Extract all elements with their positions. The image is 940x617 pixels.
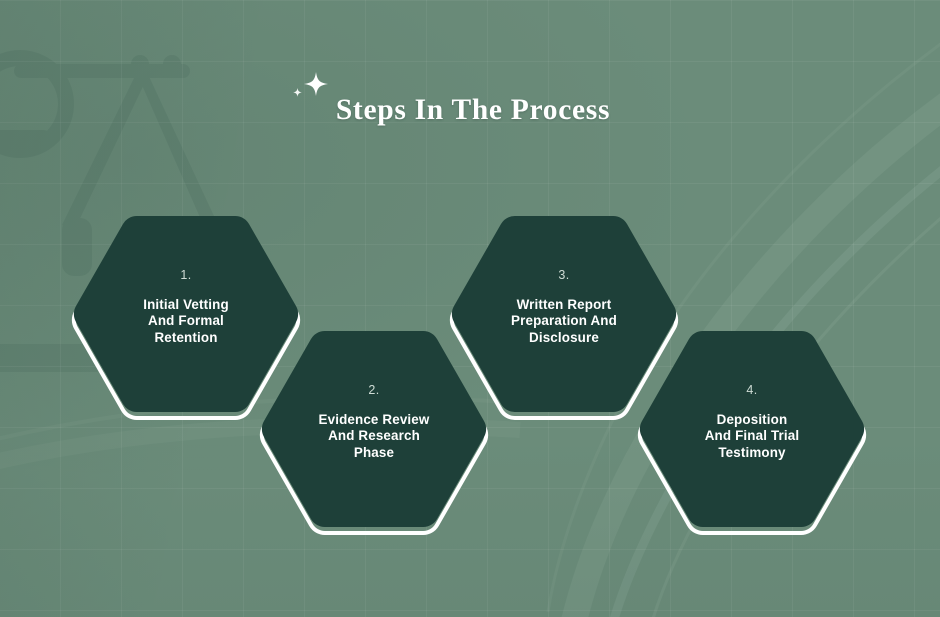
step-4-label: Deposition And Final Trial Testimony [705,412,800,461]
step-4-hexagon[interactable]: 4. Deposition And Final Trial Testimony [637,315,867,529]
step-3-number: 3. [558,268,569,282]
page-title-block: Steps In The Process [0,96,940,126]
infographic-canvas: Steps In The Process 1. Initial Vetting … [0,0,940,617]
step-1-label: Initial Vetting And Formal Retention [143,297,229,346]
step-2-label: Evidence Review And Research Phase [319,412,430,461]
step-2-number: 2. [368,383,379,397]
step-3-label: Written Report Preparation And Disclosur… [511,297,617,346]
step-1-number: 1. [180,268,191,282]
step-4-number: 4. [746,383,757,397]
page-title: Steps In The Process [336,96,610,126]
